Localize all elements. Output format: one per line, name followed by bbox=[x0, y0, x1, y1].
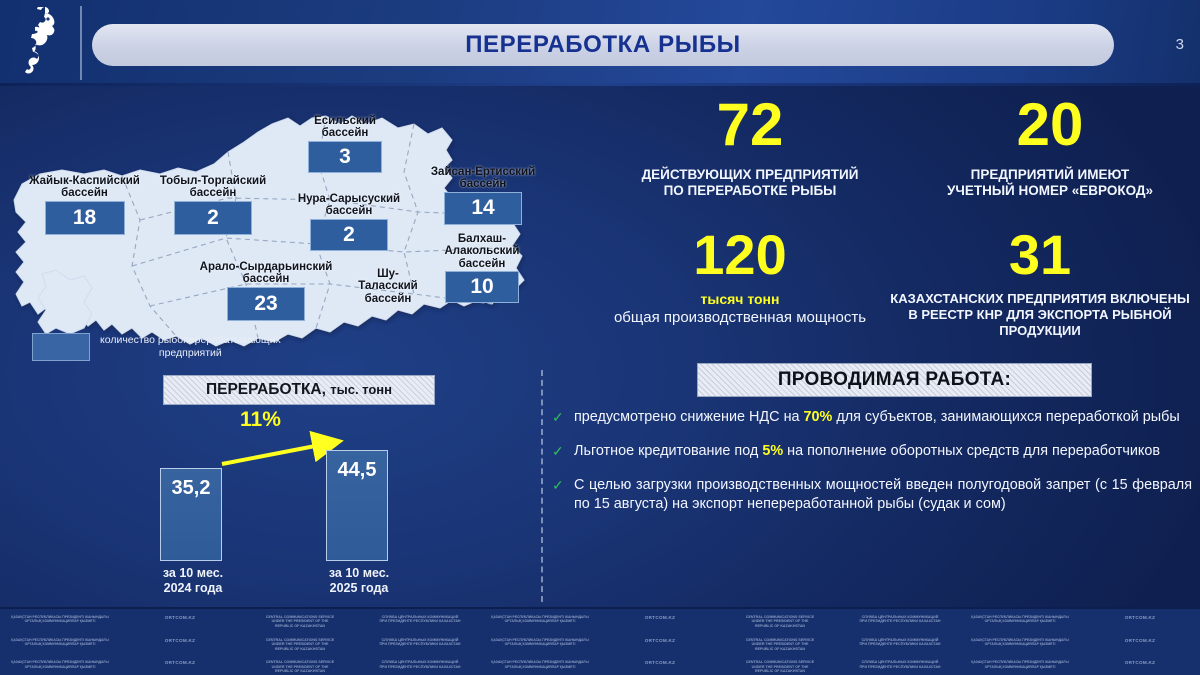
basin-value: 10 bbox=[445, 271, 519, 303]
footer-watermark-text: СЛУЖБА ЦЕНТРАЛЬНЫХ КОММУНИКАЦИЙ ПРИ ПРЕЗ… bbox=[360, 660, 480, 669]
basin-label: Нура-Сарысуский бассейн bbox=[298, 193, 400, 218]
footer-watermark-text: ҚАЗАҚСТАН РЕСПУБЛИКАСЫ ПРЕЗИДЕНТІ ЖАНЫНД… bbox=[960, 660, 1080, 669]
footer-watermark-text: СЛУЖБА ЦЕНТРАЛЬНЫХ КОММУНИКАЦИЙ ПРИ ПРЕЗ… bbox=[840, 638, 960, 647]
legend-swatch bbox=[32, 333, 90, 361]
slide-canvas: ПЕРЕРАБОТКА РЫБЫ 3 bbox=[0, 0, 1200, 675]
legend-label: количество рыбоперерабатывающих предприя… bbox=[100, 334, 281, 359]
footer-watermark-text: ORTCOM.KZ bbox=[1080, 660, 1200, 666]
footer-watermark-text: ORTCOM.KZ bbox=[600, 638, 720, 644]
list-item[interactable]: ✓ Льготное кредитование под 5% на пополн… bbox=[552, 442, 1192, 461]
footer-watermark-text: ORTCOM.KZ bbox=[600, 660, 720, 666]
section-divider bbox=[541, 370, 543, 602]
work-title-box: ПРОВОДИМАЯ РАБОТА: bbox=[697, 363, 1092, 397]
basin-tobyl-torgayskiy[interactable]: Тобыл-Торгайский бассейн 2 bbox=[147, 175, 279, 235]
footer-watermark-text: ORTCOM.KZ bbox=[1080, 638, 1200, 644]
bar-category-2025: за 10 мес. 2025 года bbox=[314, 566, 404, 596]
basin-zhaiyk-kaspiyskiy[interactable]: Жайык-Каспийский бассейн 18 bbox=[12, 175, 157, 235]
work-bullet-list: ✓ предусмотрено снижение НДС на 70% для … bbox=[552, 408, 1192, 530]
map-legend: количество рыбоперерабатывающих предприя… bbox=[32, 333, 281, 361]
bar-value-2024: 35,2 bbox=[172, 477, 211, 560]
footer-watermark-text: СЛУЖБА ЦЕНТРАЛЬНЫХ КОММУНИКАЦИЙ ПРИ ПРЕЗ… bbox=[360, 638, 480, 647]
basin-value: 14 bbox=[444, 192, 522, 225]
bullet-text: С целью загрузки производственных мощнос… bbox=[574, 476, 1192, 514]
footer-watermark-text: ORTCOM.KZ bbox=[120, 638, 240, 644]
bar-category-2024: за 10 мес. 2024 года bbox=[148, 566, 238, 596]
footer-watermark-text: ORTCOM.KZ bbox=[120, 660, 240, 666]
stat-caption: ПРЕДПРИЯТИЙ ИМЕЮТ УЧЕТНЫЙ НОМЕР «ЕВРОКОД… bbox=[900, 167, 1200, 200]
footer-watermark-band: ҚАЗАҚСТАН РЕСПУБЛИКАСЫ ПРЕЗИДЕНТІ ЖАНЫНД… bbox=[0, 607, 1200, 675]
stat-number: 31 bbox=[880, 227, 1200, 283]
stat-caption: ДЕЙСТВУЮЩИХ ПРЕДПРИЯТИЙ ПО ПЕРЕРАБОТКЕ Р… bbox=[600, 167, 900, 200]
basin-value: 2 bbox=[174, 201, 252, 235]
header-underline bbox=[0, 83, 1200, 86]
footer-watermark-text: ҚАЗАҚСТАН РЕСПУБЛИКАСЫ ПРЕЗИДЕНТІ ЖАНЫНД… bbox=[0, 638, 120, 647]
basin-nura-sarysuskiy[interactable]: Нура-Сарысуский бассейн 2 bbox=[294, 193, 404, 251]
footer-watermark-text: ORTCOM.KZ bbox=[1080, 615, 1200, 621]
bar-value-2025: 44,5 bbox=[338, 459, 377, 560]
processing-bar-chart: ПЕРЕРАБОТКА, тыс. тонн 11% 35,2 44,5 за … bbox=[130, 370, 470, 600]
basin-label: Арало-Сырдарьинский бассейн bbox=[200, 261, 333, 286]
footer-watermark-text: ҚАЗАҚСТАН РЕСПУБЛИКАСЫ ПРЕЗИДЕНТІ ЖАНЫНД… bbox=[0, 660, 120, 669]
growth-label: 11% bbox=[240, 408, 281, 432]
footer-watermark-text: ҚАЗАҚСТАН РЕСПУБЛИКАСЫ ПРЕЗИДЕНТІ ЖАНЫНД… bbox=[0, 615, 120, 624]
basin-zaysan-ertisskiy[interactable]: Зайсан-Ертисский бассейн 14 bbox=[424, 166, 542, 225]
footer-watermark-text: CENTRAL COMMUNICATIONS SERVICE UNDER THE… bbox=[720, 638, 840, 651]
footer-watermark-text: ҚАЗАҚСТАН РЕСПУБЛИКАСЫ ПРЕЗИДЕНТІ ЖАНЫНД… bbox=[960, 615, 1080, 624]
footer-watermark-text: ҚАЗАҚСТАН РЕСПУБЛИКАСЫ ПРЕЗИДЕНТІ ЖАНЫНД… bbox=[960, 638, 1080, 647]
basin-shu-talasskiy[interactable]: Шу- Таласский бассейн bbox=[352, 268, 424, 305]
footer-watermark-text: CENTRAL COMMUNICATIONS SERVICE UNDER THE… bbox=[240, 615, 360, 628]
basin-value: 3 bbox=[308, 141, 382, 173]
page-number: 3 bbox=[1176, 36, 1184, 53]
header-divider bbox=[80, 6, 82, 80]
basin-label: Тобыл-Торгайский бассейн bbox=[160, 175, 266, 200]
footer-watermark-text: CENTRAL COMMUNICATIONS SERVICE UNDER THE… bbox=[720, 660, 840, 673]
basin-aralo-syrdarinskiy[interactable]: Арало-Сырдарьинский бассейн 23 bbox=[195, 261, 337, 321]
snow-leopard-emblem bbox=[8, 4, 70, 80]
basin-esilskiy[interactable]: Есильский бассейн 3 bbox=[297, 115, 393, 173]
slide-header: ПЕРЕРАБОТКА РЫБЫ 3 bbox=[0, 0, 1200, 85]
basin-label: Зайсан-Ертисский бассейн bbox=[431, 166, 535, 191]
basin-balkhash-alakolskiy[interactable]: Балхаш- Алакольский бассейн 10 bbox=[432, 233, 532, 303]
basin-value: 18 bbox=[45, 201, 125, 235]
chart-title-box: ПЕРЕРАБОТКА, тыс. тонн bbox=[163, 375, 435, 405]
work-title: ПРОВОДИМАЯ РАБОТА: bbox=[778, 369, 1011, 391]
stat-number: 20 bbox=[900, 95, 1200, 155]
stat-total-capacity: 120 тысяч тонн общая производственная мо… bbox=[580, 227, 900, 327]
check-icon: ✓ bbox=[552, 476, 574, 495]
check-icon: ✓ bbox=[552, 442, 574, 461]
footer-watermark-text: CENTRAL COMMUNICATIONS SERVICE UNDER THE… bbox=[240, 638, 360, 651]
stat-active-enterprises: 72 ДЕЙСТВУЮЩИХ ПРЕДПРИЯТИЙ ПО ПЕРЕРАБОТК… bbox=[600, 95, 900, 200]
bullet-text: Льготное кредитование под 5% на пополнен… bbox=[574, 442, 1192, 461]
footer-watermark-text: ҚАЗАҚСТАН РЕСПУБЛИКАСЫ ПРЕЗИДЕНТІ ЖАНЫНД… bbox=[480, 615, 600, 624]
stat-unit: тысяч тонн bbox=[580, 291, 900, 307]
footer-watermark-text: ҚАЗАҚСТАН РЕСПУБЛИКАСЫ ПРЕЗИДЕНТІ ЖАНЫНД… bbox=[480, 638, 600, 647]
list-item[interactable]: ✓ С целью загрузки производственных мощн… bbox=[552, 476, 1192, 514]
stat-china-registry: 31 КАЗАХСТАНСКИХ ПРЕДПРИЯТИЯ ВКЛЮЧЕНЫ В … bbox=[880, 227, 1200, 339]
stat-eurocode-enterprises: 20 ПРЕДПРИЯТИЙ ИМЕЮТ УЧЕТНЫЙ НОМЕР «ЕВРО… bbox=[900, 95, 1200, 200]
footer-watermark-text: CENTRAL COMMUNICATIONS SERVICE UNDER THE… bbox=[720, 615, 840, 628]
footer-watermark-text: СЛУЖБА ЦЕНТРАЛЬНЫХ КОММУНИКАЦИЙ ПРИ ПРЕЗ… bbox=[840, 660, 960, 669]
footer-watermark-text: СЛУЖБА ЦЕНТРАЛЬНЫХ КОММУНИКАЦИЙ ПРИ ПРЕЗ… bbox=[360, 615, 480, 624]
basin-value: 2 bbox=[310, 219, 388, 251]
basin-label: Есильский бассейн bbox=[314, 115, 376, 140]
basin-value: 23 bbox=[227, 287, 305, 321]
footer-watermark-text: CENTRAL COMMUNICATIONS SERVICE UNDER THE… bbox=[240, 660, 360, 673]
list-item[interactable]: ✓ предусмотрено снижение НДС на 70% для … bbox=[552, 408, 1192, 427]
bullet-text: предусмотрено снижение НДС на 70% для су… bbox=[574, 408, 1192, 427]
stat-caption: КАЗАХСТАНСКИХ ПРЕДПРИЯТИЯ ВКЛЮЧЕНЫ В РЕЕ… bbox=[880, 291, 1200, 339]
stat-caption: общая производственная мощность bbox=[580, 309, 900, 327]
basin-label: Шу- Таласский бассейн bbox=[358, 268, 418, 305]
check-icon: ✓ bbox=[552, 408, 574, 427]
page-title: ПЕРЕРАБОТКА РЫБЫ bbox=[465, 31, 741, 59]
footer-watermark-text: ORTCOM.KZ bbox=[600, 615, 720, 621]
footer-watermark-text: ORTCOM.KZ bbox=[120, 615, 240, 621]
basin-label: Балхаш- Алакольский бассейн bbox=[444, 233, 519, 270]
basin-label: Жайык-Каспийский бассейн bbox=[29, 175, 140, 200]
bar-2024[interactable]: 35,2 bbox=[160, 468, 222, 561]
footer-watermark-text: СЛУЖБА ЦЕНТРАЛЬНЫХ КОММУНИКАЦИЙ ПРИ ПРЕЗ… bbox=[840, 615, 960, 624]
chart-title: ПЕРЕРАБОТКА, тыс. тонн bbox=[206, 381, 392, 399]
stat-number: 72 bbox=[600, 95, 900, 155]
title-bar: ПЕРЕРАБОТКА РЫБЫ bbox=[92, 24, 1114, 66]
footer-watermark-text: ҚАЗАҚСТАН РЕСПУБЛИКАСЫ ПРЕЗИДЕНТІ ЖАНЫНД… bbox=[480, 660, 600, 669]
stat-number: 120 bbox=[580, 227, 900, 283]
bar-2025[interactable]: 44,5 bbox=[326, 450, 388, 561]
